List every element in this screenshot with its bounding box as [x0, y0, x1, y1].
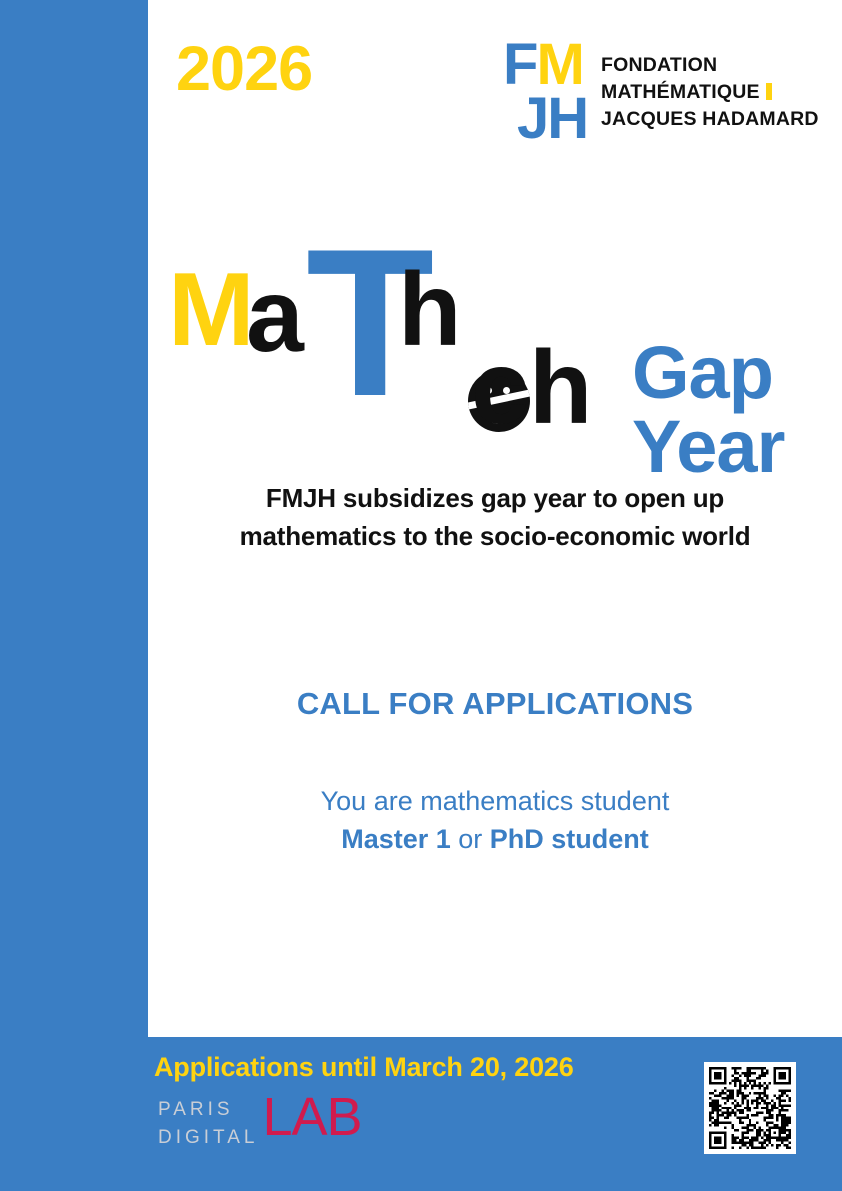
wordmark-letters-ch: ch [471, 336, 592, 440]
subtitle-line-1: FMJH subsidizes gap year to open up [148, 480, 842, 518]
call-for-applications-heading: CALL FOR APPLICATIONS [148, 686, 842, 722]
qr-code-image [709, 1067, 791, 1149]
yellow-bar-icon [766, 83, 772, 100]
subtitle: FMJH subsidizes gap year to open up math… [148, 480, 842, 555]
pdl-wordmark: PARIS DIGITAL [158, 1092, 259, 1151]
eligibility-master: Master 1 [341, 824, 451, 854]
qr-code[interactable] [704, 1062, 796, 1154]
fmjh-name-line-1: FONDATION [601, 52, 819, 79]
pdl-lab: LAB [263, 1092, 362, 1143]
eligibility-line-2: Master 1 or PhD student [148, 820, 842, 858]
wordmark-letter-m: M [168, 258, 255, 362]
fmjh-name-line-3: JACQUES HADAMARD [601, 106, 819, 133]
paris-digital-lab-logo: PARIS DIGITAL LAB [158, 1092, 362, 1151]
fmjh-monogram-icon: FM JH [503, 38, 591, 146]
fmjh-wordmark: FONDATION MATHÉMATIQUE JACQUES HADAMARD [601, 38, 819, 133]
wordmark-letter-h: h [398, 258, 462, 362]
pdl-paris: PARIS [158, 1096, 259, 1124]
eligibility-line-1: You are mathematics student [148, 782, 842, 820]
fmjh-logo: FM JH FONDATION MATHÉMATIQUE JACQUES HAD… [503, 38, 819, 146]
eligibility-or: or [451, 824, 490, 854]
eligibility-block: You are mathematics student Master 1 or … [148, 782, 842, 859]
wordmark-gap-year: Gap Year [632, 336, 842, 484]
fmjh-letters-jh: JH [503, 92, 591, 146]
year-heading: 2026 [176, 38, 312, 101]
fmjh-monogram-row-1: FM [503, 38, 591, 92]
fmjh-name-line-2: MATHÉMATIQUE [601, 81, 760, 103]
mathech-gap-year-wordmark: M a T h ch Gap Year [148, 218, 842, 408]
poster-canvas: 2026 FM JH FONDATION MATHÉMATIQUE JACQUE… [0, 0, 842, 1191]
left-blue-band [0, 0, 148, 1191]
subtitle-line-2: mathematics to the socio-economic world [148, 518, 842, 556]
wordmark-letter-a: a [246, 264, 304, 368]
fmjh-name-line-2-wrap: MATHÉMATIQUE [601, 79, 819, 106]
pdl-digital: DIGITAL [158, 1124, 259, 1152]
deadline-text: Applications until March 20, 2026 [154, 1052, 574, 1083]
eligibility-phd: PhD student [490, 824, 649, 854]
